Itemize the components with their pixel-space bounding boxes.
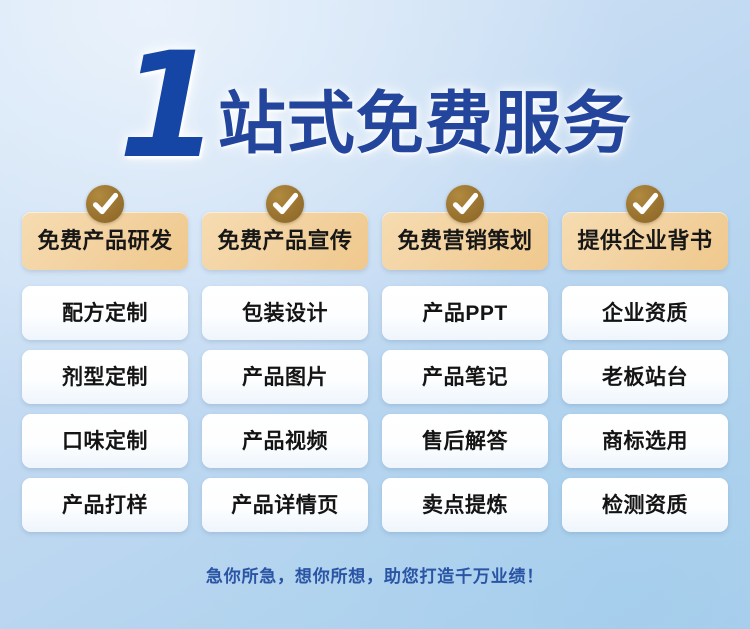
service-item[interactable]: 产品笔记 <box>382 350 548 404</box>
service-category-label: 免费产品宣传 <box>217 230 352 252</box>
title-numeral: 1 <box>118 45 214 168</box>
footer: 急你所急，想你所想，助您打造千万业绩！ <box>0 562 750 587</box>
service-column-2: 免费产品宣传 包装设计 产品图片 产品视频 产品详情页 <box>202 212 368 542</box>
service-item[interactable]: 产品打样 <box>22 478 188 532</box>
service-item-label: 口味定制 <box>62 431 148 452</box>
service-item-label: 产品图片 <box>242 367 328 388</box>
service-item-label: 产品详情页 <box>231 495 339 516</box>
service-item[interactable]: 售后解答 <box>382 414 548 468</box>
service-item[interactable]: 产品PPT <box>382 286 548 340</box>
service-column-4: 提供企业背书 企业资质 老板站台 商标选用 检测资质 <box>562 212 728 542</box>
service-item-label: 产品笔记 <box>422 367 508 388</box>
service-item-label: 产品PPT <box>422 303 507 324</box>
footer-slogan: 急你所急，想你所想，助您打造千万业绩！ <box>206 567 544 586</box>
service-item[interactable]: 企业资质 <box>562 286 728 340</box>
service-column-1: 免费产品研发 配方定制 剂型定制 口味定制 产品打样 <box>22 212 188 542</box>
service-item[interactable]: 产品视频 <box>202 414 368 468</box>
service-item-label: 配方定制 <box>62 303 148 324</box>
service-item[interactable]: 商标选用 <box>562 414 728 468</box>
service-category-header-4[interactable]: 提供企业背书 <box>562 212 728 270</box>
service-item-label: 包装设计 <box>242 303 328 324</box>
service-item[interactable]: 口味定制 <box>22 414 188 468</box>
service-category-label: 免费营销策划 <box>397 230 532 252</box>
service-item-label: 产品视频 <box>242 431 328 452</box>
service-item[interactable]: 卖点提炼 <box>382 478 548 532</box>
service-item[interactable]: 配方定制 <box>22 286 188 340</box>
check-circle-icon <box>266 185 304 223</box>
check-circle-icon <box>86 185 124 223</box>
check-circle-icon <box>446 185 484 223</box>
service-item[interactable]: 老板站台 <box>562 350 728 404</box>
service-item[interactable]: 产品详情页 <box>202 478 368 532</box>
service-item[interactable]: 产品图片 <box>202 350 368 404</box>
service-category-header-1[interactable]: 免费产品研发 <box>22 212 188 270</box>
title-headline: 站式免费服务 <box>218 90 632 158</box>
check-circle-icon <box>626 185 664 223</box>
service-item-label: 产品打样 <box>62 495 148 516</box>
service-item[interactable]: 包装设计 <box>202 286 368 340</box>
service-column-3: 免费营销策划 产品PPT 产品笔记 售后解答 卖点提炼 <box>382 212 548 542</box>
promo-poster: 1 站式免费服务 免费产品研发 配方定制 剂型定制 口味定制 <box>0 0 750 629</box>
service-item-label: 卖点提炼 <box>422 495 508 516</box>
service-item-label: 老板站台 <box>602 367 688 388</box>
service-grid: 免费产品研发 配方定制 剂型定制 口味定制 产品打样 <box>22 212 728 542</box>
service-item-label: 售后解答 <box>422 431 508 452</box>
service-item[interactable]: 检测资质 <box>562 478 728 532</box>
service-category-label: 免费产品研发 <box>37 230 172 252</box>
service-item-label: 企业资质 <box>602 303 688 324</box>
service-item[interactable]: 剂型定制 <box>22 350 188 404</box>
service-category-header-2[interactable]: 免费产品宣传 <box>202 212 368 270</box>
service-item-label: 剂型定制 <box>62 367 148 388</box>
service-item-label: 检测资质 <box>602 495 688 516</box>
page-title: 1 站式免费服务 <box>0 22 750 162</box>
service-category-header-3[interactable]: 免费营销策划 <box>382 212 548 270</box>
service-item-label: 商标选用 <box>602 431 688 452</box>
service-category-label: 提供企业背书 <box>577 230 712 252</box>
